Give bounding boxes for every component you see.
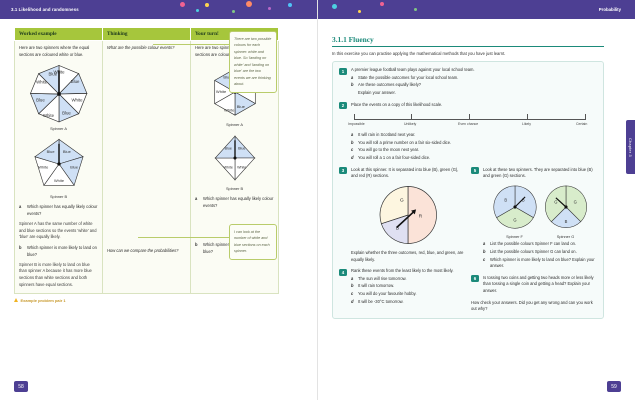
task-6-number: 6 (471, 275, 479, 282)
task-5-sub-c-text: Which spinner is more likely to land on … (490, 257, 597, 270)
task-2-sub-b-text: You will roll a prime number on a fair s… (358, 140, 451, 147)
spinner-label-white: White (215, 89, 226, 94)
task-5-sub-a: a List the possible colours Spinner F ca… (483, 241, 597, 248)
spinner-label-blue: Blue (70, 78, 79, 83)
task-4-sub-b: b It will rain tomorrow. (351, 283, 465, 290)
task-4-sub-d-label: d (351, 299, 355, 306)
spinner-f-label-b2: B (504, 197, 507, 202)
thinking-prompt-2: How can we compare the probabilities? (107, 248, 186, 255)
task-5-text: Look at these two spinners. They are sep… (483, 167, 597, 180)
task-4-sub-a: a The sun will rise tomorrow. (351, 276, 465, 283)
yt-spinner-a-caption: Spinner A (226, 122, 243, 128)
task-5-sub-a-text: List the possible colours Spinner F can … (490, 241, 576, 248)
cell-worked-example: Here are two spinners where the equal se… (15, 41, 103, 294)
task-4-sub-c-text: You will do your favourite hobby. (358, 291, 417, 298)
pie-label-r: R (419, 213, 423, 219)
task-4-sub-b-text: It will rain tomorrow. (358, 283, 394, 290)
task-1-sub-a: a State the possible outcomes for your l… (351, 75, 597, 82)
callout-box-sections: I can look at the number of white and bl… (229, 224, 277, 260)
confetti-dot (268, 7, 271, 10)
task-6-body: Is tossing two coins and getting two hea… (483, 275, 597, 295)
spinner-label-blue: Blue (238, 147, 245, 151)
spinner-label-blue: Blue (236, 104, 245, 109)
yt-question-a-text: Which spinner has equally likely colour … (203, 196, 274, 210)
task-3-body: Look at this spinner. It is separated in… (351, 167, 465, 264)
spinner-label-blue: Blue (46, 149, 54, 154)
task-1-number: 1 (339, 68, 347, 75)
confetti-dot (414, 8, 417, 11)
yt-spinner-b-caption: Spinner B (226, 186, 243, 192)
task-3-number: 3 (339, 167, 347, 174)
task-6-text: Is tossing two coins and getting two hea… (483, 275, 597, 295)
task-5-body: Look at these two spinners. They are sep… (483, 167, 597, 270)
task-5-number: 5 (471, 167, 479, 174)
left-header-title: 3.1 Likelihood and randomness (11, 7, 79, 12)
task-5-sub-c: c Which spinner is more likely to land o… (483, 257, 597, 270)
scale-label-impossible: Impossible (348, 122, 365, 128)
confetti-dot (205, 3, 209, 7)
task-1: 1 A premier league football team plays a… (339, 67, 597, 97)
spinner-g-label-g2: G (554, 199, 557, 204)
right-page-header: Probability (318, 0, 635, 19)
we-question-b: b Which spinner is more likely to land o… (19, 245, 98, 259)
spinner-g-label-b: B (564, 219, 567, 224)
scale-label-row: Impossible Unlikely Even chance Likely C… (354, 122, 594, 128)
cell-thinking: What are the possible colour events? How… (103, 41, 191, 294)
confetti-dot (180, 2, 185, 7)
likelihood-scale-line (354, 113, 586, 122)
yt-question-a: a Which spinner has equally likely colou… (195, 196, 274, 210)
task-5-sub-b-label: b (483, 249, 487, 256)
yt-question-a-label: a (195, 196, 200, 210)
spinner-pentagon-icon: Blue Blue White White Blue (30, 136, 88, 192)
task-5: 5 Look at these two spinners. They are s… (471, 167, 597, 270)
task-1-sub-b: b Are these outcomes equally likely? (351, 82, 597, 89)
spinner-label-white: White (38, 165, 48, 170)
confetti-dot (332, 4, 337, 9)
right-page-content: 3.1.1 Fluency In this exercise you can p… (318, 19, 635, 319)
yt-question-b-label: b (195, 242, 200, 256)
scale-axis (354, 119, 586, 120)
we-question-b-text: Which spinner is more likely to land on … (27, 245, 98, 259)
task-2-sub-c: c You will go to the moon next year. (351, 147, 597, 154)
right-page: Probability 3.1.1 Fluency In this exerci… (318, 0, 635, 400)
likelihood-scale: Impossible Unlikely Even chance Likely C… (351, 113, 597, 128)
confetti-dot (246, 1, 252, 7)
exercise-two-column-area: 3 Look at this spinner. It is separated … (339, 167, 597, 313)
task-1-text: A premier league football team plays aga… (351, 67, 597, 74)
task-1-sub-explain-label (351, 90, 355, 97)
we-question-a-label: a (19, 204, 24, 218)
scale-tick (411, 114, 412, 119)
spinner-f-caption: Spinner F (492, 234, 538, 240)
task-3-text: Look at this spinner. It is separated in… (351, 167, 465, 180)
spinner-g-pie-icon: G B G (543, 184, 589, 230)
spinner-label-blue: Blue (48, 71, 57, 76)
task-2-sub-b: b You will roll a prime number on a fair… (351, 140, 597, 147)
task-4-sub-b-label: b (351, 283, 355, 290)
spinner-label-white: White (223, 166, 232, 170)
task-2-sub-c-label: c (351, 147, 355, 154)
task-4: 4 Rank these events from the least likel… (339, 268, 465, 305)
spinner-label-blue: Blue (224, 147, 231, 151)
task-5-sub-b: b List the possible colours Spinner G ca… (483, 249, 597, 256)
task-1-sub-a-label: a (351, 75, 355, 82)
spinner-label-white: White (237, 166, 246, 170)
task-3-follow-up: Explain whether the three outcomes, red,… (351, 250, 465, 263)
spinner-g-figure: G B G Spinner G (543, 184, 589, 240)
scale-label-certain: Certain (576, 122, 587, 128)
we-question-a: a Which spinner has equally likely colou… (19, 204, 98, 218)
task-4-sub-c: c You will do your favourite hobby. (351, 291, 465, 298)
spinner-b-figure: Blue Blue White White Blue Spinner B (19, 136, 98, 200)
section-number: 3.1.1 (332, 35, 347, 44)
confetti-dot (380, 2, 384, 6)
task-2-sub-a-label: a (351, 132, 355, 139)
section-title: Fluency (349, 35, 374, 44)
task-5-sub-b-text: List the possible colours Spinner G can … (490, 249, 577, 256)
task-4-sub-a-label: a (351, 276, 355, 283)
exercise-column-right: 5 Look at these two spinners. They are s… (471, 167, 597, 313)
task-3-figure: R B G (351, 184, 465, 246)
figure-caption: Example problem pair 1 (14, 298, 307, 303)
we-intro: Here are two spinners where the equal se… (19, 45, 98, 59)
task-4-sub-c-label: c (351, 291, 355, 298)
section-intro: In this exercise you can practise applyi… (332, 51, 613, 56)
task-6-follow-up: How check your answers. Did you get any … (471, 300, 597, 313)
exercise-column-left: 3 Look at this spinner. It is separated … (339, 167, 465, 313)
confetti-dot (196, 9, 199, 12)
task-4-number: 4 (339, 269, 347, 276)
task-2-sub-a: a It will rain in Scotland next year. (351, 132, 597, 139)
spinner-label-white: White (71, 97, 83, 102)
task-2-body: Place the events on a copy of this likel… (351, 102, 597, 162)
scale-tick (585, 114, 586, 119)
confetti-dot (288, 3, 292, 7)
we-answer-a: Spinner A has the same number of white a… (19, 221, 98, 241)
task-3: 3 Look at this spinner. It is separated … (339, 167, 465, 264)
task-2-sub-d: d You will roll a 1 on a fair four-sided… (351, 155, 597, 162)
section-heading: 3.1.1 Fluency (332, 35, 604, 47)
scale-label-likely: Likely (522, 122, 531, 128)
task-1-body: A premier league football team plays aga… (351, 67, 597, 97)
callout-leader-line (138, 237, 229, 238)
spinner-a-caption: Spinner A (50, 126, 67, 132)
warning-triangle-icon (14, 298, 18, 302)
task-4-text: Rank these events from the least likely … (351, 268, 465, 275)
task-4-sub-a-text: The sun will rise tomorrow. (358, 276, 406, 283)
callout-leader-line (153, 44, 229, 45)
thinking-spacer (107, 52, 186, 248)
page-number-left: 58 (14, 381, 28, 392)
spinner-g-caption: Spinner G (543, 234, 589, 240)
scale-label-even-chance: Even chance (458, 122, 478, 128)
task-2-number: 2 (339, 102, 347, 109)
task-4-sub-d-text: It will be -30°C tomorrow. (358, 299, 404, 306)
book-spread: 3.1 Likelihood and randomness Worked exa… (0, 0, 635, 400)
spinner-octagon-icon: White Blue White Blue White Blue White B… (28, 63, 90, 125)
right-header-title: Probability (599, 7, 621, 12)
task-2-sub-d-text: You will roll a 1 on a fair four-sided d… (358, 155, 430, 162)
task-4-sub-d: d It will be -30°C tomorrow. (351, 299, 465, 306)
task-2: 2 Place the events on a copy of this lik… (339, 102, 597, 162)
spinner-f-pie-icon: B G B (492, 184, 538, 230)
we-question-b-label: b (19, 245, 24, 259)
spinner-label-white: White (36, 79, 48, 84)
task-5-sub-c-label: c (483, 257, 487, 270)
confetti-dot (358, 10, 361, 13)
callout-box-events: There are two possible colours for each … (229, 31, 277, 93)
figure-caption-text: Example problem pair 1 (21, 298, 66, 303)
task-2-sub-a-text: It will rain in Scotland next year. (358, 132, 415, 139)
page-number-right: 59 (607, 381, 621, 392)
task-2-sub-b-label: b (351, 140, 355, 147)
left-page: 3.1 Likelihood and randomness Worked exa… (0, 0, 318, 400)
spinner-label-blue: Blue (62, 110, 71, 115)
task-2-sub-c-text: You will go to the moon next year. (358, 147, 419, 154)
chapter-side-tab: Chapter 3 (626, 120, 635, 174)
confetti-dot (232, 10, 235, 13)
scale-tick (469, 114, 470, 119)
left-page-header: 3.1 Likelihood and randomness (0, 0, 317, 19)
chapter-side-tab-label: Chapter 3 (628, 138, 633, 157)
spinner-label-white: White (54, 178, 64, 183)
spinner-label-blue: Blue (62, 149, 70, 154)
col-header-worked-example: Worked example (15, 28, 103, 41)
spinner-label-blue: Blue (36, 97, 45, 102)
spinner-label-white: White (224, 107, 235, 112)
spinner-f-figure: B G B Spinner F (492, 184, 538, 240)
task-5-figures: B G B Spinner F (483, 184, 597, 240)
spinner-pie-icon: R B G (377, 184, 439, 246)
we-answer-b: Spinner B is more likely to land on blue… (19, 262, 98, 289)
pie-label-g: G (400, 197, 404, 203)
spinner-a-figure: White Blue White Blue White Blue White B… (19, 63, 98, 133)
exercise-card: 1 A premier league football team plays a… (332, 61, 604, 319)
task-1-sub-b-label: b (351, 82, 355, 89)
spinner-b-caption: Spinner B (50, 194, 67, 200)
we-question-a-text: Which spinner has equally likely colour … (27, 204, 98, 218)
task-1-sub-explain-text: Explain your answer. (358, 90, 396, 97)
task-4-body: Rank these events from the least likely … (351, 268, 465, 305)
task-6: 6 Is tossing two coins and getting two h… (471, 275, 597, 295)
task-1-sub-b-text: Are these outcomes equally likely? (358, 82, 421, 89)
task-2-sub-d-label: d (351, 155, 355, 162)
col-header-thinking: Thinking (103, 28, 191, 41)
spinner-label-blue: Blue (70, 165, 78, 170)
spinner-f-label-g: G (513, 218, 516, 223)
task-2-text: Place the events on a copy of this likel… (351, 102, 597, 109)
spinner-g-label-g: G (573, 199, 576, 204)
yt-spinner-b-figure: Blue White White Blue Spinner B (195, 132, 274, 192)
task-1-sub-explain: Explain your answer. (351, 90, 597, 97)
spinner-label-white: White (42, 112, 54, 117)
scale-label-unlikely: Unlikely (404, 122, 416, 128)
task-1-sub-a-text: State the possible outcomes for your loc… (358, 75, 458, 82)
scale-tick (527, 114, 528, 119)
task-5-sub-a-label: a (483, 241, 487, 248)
thinking-prompt-1: What are the possible colour events? (107, 45, 186, 52)
scale-tick (354, 114, 355, 119)
spinner-diamond-icon: Blue White White Blue (208, 132, 262, 184)
